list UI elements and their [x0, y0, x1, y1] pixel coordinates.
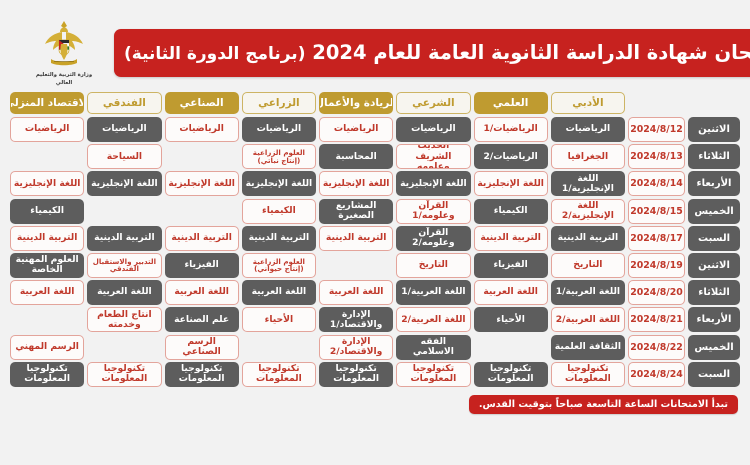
- page-header: وزارة التربية والتعليم العالي امتحان شها…: [0, 0, 750, 92]
- subject-cell: الرياضيات: [396, 117, 470, 142]
- exam-schedule-page: وزارة التربية والتعليم العالي امتحان شها…: [0, 0, 750, 465]
- table-row: الاثنين2024/8/19التاريخالفيزياءالتاريخال…: [10, 253, 740, 278]
- day-cell: الخميس: [688, 335, 740, 360]
- ministry-logo-caption: وزارة التربية والتعليم العالي: [36, 72, 92, 87]
- empty-cell: [165, 199, 239, 224]
- subject-cell: تكنولوجيا المعلومات: [551, 362, 625, 387]
- subject-cell: تكنولوجيا المعلومات: [242, 362, 316, 387]
- subject-cell: الإدارة والاقتصاد/1: [319, 307, 393, 332]
- footer: تبدأ الامتحانات الساعة التاسعة صباحاً بت…: [0, 389, 750, 415]
- subject-cell: الكيمياء: [242, 199, 316, 224]
- date-cell: 2024/8/13: [628, 144, 685, 169]
- subject-cell: علم الصناعة: [165, 307, 239, 332]
- subject-cell: الجغرافيا: [551, 144, 625, 169]
- subject-cell: الكيمياء: [10, 199, 84, 224]
- subject-cell: الأحياء: [474, 307, 548, 332]
- subject-cell: القرآن وعلومه/2: [396, 226, 470, 251]
- day-cell: الثلاثاء: [688, 144, 740, 169]
- day-cell: السبت: [688, 362, 740, 387]
- date-cell: 2024/8/19: [628, 253, 685, 278]
- date-cell: 2024/8/21: [628, 307, 685, 332]
- subject-cell: التدبير والاستقبال الفندقي: [87, 253, 161, 278]
- subject-cell: اللغة العربية/2: [396, 307, 470, 332]
- empty-cell: [10, 144, 84, 169]
- subject-cell: العلوم الزراعية (إنتاج نباتي): [242, 144, 316, 169]
- subject-cell: الرياضيات: [165, 117, 239, 142]
- empty-cell: [87, 335, 161, 360]
- subject-cell: اللغة العربية: [242, 280, 316, 305]
- page-title-sub: (برنامج الدورة الثانية): [124, 44, 305, 64]
- subject-cell: الإدارة والاقتصاد/2: [319, 335, 393, 360]
- subject-cell: العلوم المهنية الخاصة: [10, 253, 84, 278]
- day-cell: السبت: [688, 226, 740, 251]
- subject-cell: التربية الدينية: [319, 226, 393, 251]
- date-cell: 2024/8/15: [628, 199, 685, 224]
- subject-cell: التربية الدينية: [551, 226, 625, 251]
- empty-cell: [242, 335, 316, 360]
- subject-cell: التربية الدينية: [474, 226, 548, 251]
- track-header-5[interactable]: الصناعي: [165, 92, 239, 114]
- subject-cell: الكيمياء: [474, 199, 548, 224]
- subject-cell: التربية الدينية: [242, 226, 316, 251]
- subject-cell: الرياضيات/1: [474, 117, 548, 142]
- subject-cell: الثقافة العلمية: [551, 335, 625, 360]
- day-cell: الأربعاء: [688, 171, 740, 196]
- subject-cell: اللغة العربية: [165, 280, 239, 305]
- subject-cell: اللغة العربية: [474, 280, 548, 305]
- subject-cell: الأحياء: [242, 307, 316, 332]
- subject-cell: اللغة الإنجليزية: [242, 171, 316, 196]
- subject-cell: تكنولوجيا المعلومات: [319, 362, 393, 387]
- table-row: الأربعاء2024/8/21اللغة العربية/2الأحياءا…: [10, 307, 740, 332]
- day-cell: الاثنين: [688, 253, 740, 278]
- date-cell: 2024/8/24: [628, 362, 685, 387]
- subject-cell: الرسم المهني: [10, 335, 84, 360]
- subject-cell: اللغة الإنجليزية: [319, 171, 393, 196]
- subject-cell: اللغة الإنجليزية: [474, 171, 548, 196]
- table-row: السبت2024/8/24تكنولوجيا المعلوماتتكنولوج…: [10, 362, 740, 387]
- subject-cell: الرياضيات: [87, 117, 161, 142]
- schedule-table: الاثنين2024/8/12الرياضياتالرياضيات/1الري…: [0, 114, 750, 387]
- track-header-3[interactable]: الريادة والأعمال: [319, 92, 393, 114]
- empty-cell: [474, 335, 548, 360]
- subject-cell: اللغة الإنجليزية/1: [551, 171, 625, 196]
- subject-cell: تكنولوجيا المعلومات: [10, 362, 84, 387]
- track-header-6[interactable]: الفندقي: [87, 92, 161, 114]
- subject-cell: الفيزياء: [474, 253, 548, 278]
- subject-cell: تكنولوجيا المعلومات: [474, 362, 548, 387]
- subject-cell: العلوم الزراعية (إنتاج حيواني): [242, 253, 316, 278]
- subject-cell: الرياضيات: [242, 117, 316, 142]
- ministry-caption-line-2: العالي: [36, 80, 92, 87]
- subject-cell: تكنولوجيا المعلومات: [396, 362, 470, 387]
- subject-cell: التربية الدينية: [10, 226, 84, 251]
- day-cell: الأربعاء: [688, 307, 740, 332]
- subject-cell: الرياضيات: [551, 117, 625, 142]
- subject-cell: الرياضيات: [10, 117, 84, 142]
- palestine-eagle-emblem-icon: [41, 19, 87, 69]
- empty-cell: [10, 307, 84, 332]
- subject-cell: انتاج الطعام وخدمته: [87, 307, 161, 332]
- subject-cell: اللغة العربية: [319, 280, 393, 305]
- track-header-7[interactable]: الاقتصاد المنزلي: [10, 92, 84, 114]
- day-cell: الثلاثاء: [688, 280, 740, 305]
- subject-cell: التاريخ: [551, 253, 625, 278]
- subject-cell: اللغة الإنجليزية: [165, 171, 239, 196]
- page-title-main: امتحان شهادة الدراسة الثانوية العامة للع…: [312, 41, 750, 64]
- subject-cell: المشاريع الصغيرة: [319, 199, 393, 224]
- subject-cell: الرياضيات/2: [474, 144, 548, 169]
- subject-cell: المحاسبة: [319, 144, 393, 169]
- table-row: الخميس2024/8/22الثقافة العلميةالفقه الاس…: [10, 335, 740, 360]
- subject-cell: التربية الدينية: [87, 226, 161, 251]
- table-row: الخميس2024/8/15اللغة الإنجليزية/2الكيميا…: [10, 199, 740, 224]
- subject-cell: اللغة العربية/2: [551, 307, 625, 332]
- subject-cell: الرياضيات: [319, 117, 393, 142]
- track-header-2[interactable]: الشرعي: [396, 92, 470, 114]
- date-cell: 2024/8/20: [628, 280, 685, 305]
- date-cell: 2024/8/17: [628, 226, 685, 251]
- empty-cell: [319, 253, 393, 278]
- date-cell: 2024/8/22: [628, 335, 685, 360]
- subject-cell: الفقه الاسلامي: [396, 335, 470, 360]
- track-header-1[interactable]: العلمي: [474, 92, 548, 114]
- day-cell: الاثنين: [688, 117, 740, 142]
- subject-cell: التربية الدينية: [165, 226, 239, 251]
- subject-cell: تكنولوجيا المعلومات: [165, 362, 239, 387]
- table-row: الاثنين2024/8/12الرياضياتالرياضيات/1الري…: [10, 117, 740, 142]
- subject-cell: اللغة الإنجليزية: [10, 171, 84, 196]
- track-header-4[interactable]: الزراعي: [242, 92, 316, 114]
- subject-cell: السياحة: [87, 144, 161, 169]
- subject-cell: اللغة العربية/1: [551, 280, 625, 305]
- subject-cell: التاريخ: [396, 253, 470, 278]
- subject-cell: اللغة العربية: [87, 280, 161, 305]
- table-row: السبت2024/8/17التربية الدينيةالتربية الد…: [10, 226, 740, 251]
- subject-cell: اللغة العربية: [10, 280, 84, 305]
- subject-cell: اللغة العربية/1: [396, 280, 470, 305]
- table-row: الثلاثاء2024/8/13الجغرافياالرياضيات/2الح…: [10, 144, 740, 169]
- subject-cell: اللغة الإنجليزية/2: [551, 199, 625, 224]
- ministry-logo: وزارة التربية والتعليم العالي: [18, 19, 110, 87]
- table-row: الثلاثاء2024/8/20اللغة العربية/1اللغة ال…: [10, 280, 740, 305]
- empty-cell: [87, 199, 161, 224]
- date-column-header-spacer: [628, 92, 740, 114]
- track-header-row: الأدبيالعلميالشرعيالريادة والأعمالالزراع…: [0, 92, 750, 114]
- empty-cell: [165, 144, 239, 169]
- day-cell: الخميس: [688, 199, 740, 224]
- subject-cell: الفيزياء: [165, 253, 239, 278]
- page-title: امتحان شهادة الدراسة الثانوية العامة للع…: [114, 29, 750, 77]
- exam-start-time-note: تبدأ الامتحانات الساعة التاسعة صباحاً بت…: [469, 395, 738, 415]
- subject-cell: اللغة الإنجليزية: [396, 171, 470, 196]
- subject-cell: تكنولوجيا المعلومات: [87, 362, 161, 387]
- table-row: الأربعاء2024/8/14اللغة الإنجليزية/1اللغة…: [10, 171, 740, 196]
- subject-cell: الرسم الصناعي: [165, 335, 239, 360]
- ministry-caption-line-1: وزارة التربية والتعليم: [36, 72, 92, 79]
- track-header-0[interactable]: الأدبي: [551, 92, 625, 114]
- subject-cell: اللغة الإنجليزية: [87, 171, 161, 196]
- date-cell: 2024/8/12: [628, 117, 685, 142]
- subject-cell: القرآن وعلومه/1: [396, 199, 470, 224]
- subject-cell: الحديث الشريف وعلومه: [396, 144, 470, 169]
- date-cell: 2024/8/14: [628, 171, 685, 196]
